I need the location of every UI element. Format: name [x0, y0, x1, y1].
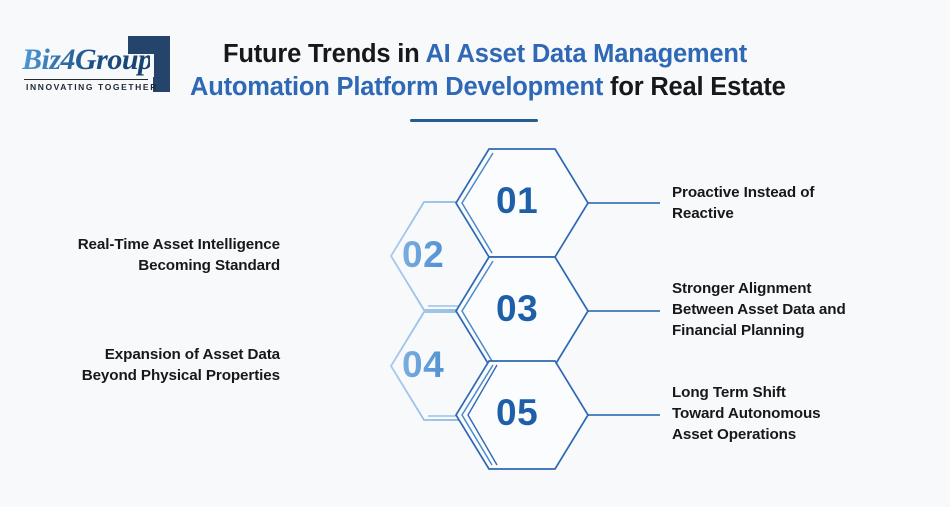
logo-tagline: INNOVATING TOGETHER	[26, 82, 158, 92]
item-label-03: Stronger Alignment Between Asset Data an…	[672, 278, 944, 341]
item-label-01: Proactive Instead of Reactive	[672, 182, 940, 224]
page-title-line-2: Automation Platform Development for Real…	[190, 71, 780, 104]
hexagon-number-02: 02	[402, 236, 444, 273]
logo-wordmark: Biz4Group	[22, 42, 150, 78]
brand-logo: Biz4Group INNOVATING TOGETHER	[18, 30, 178, 102]
item-label-02: Real-Time Asset Intelligence Becoming St…	[10, 234, 280, 276]
item-label-04: Expansion of Asset Data Beyond Physical …	[10, 344, 280, 386]
title-underline	[410, 119, 538, 122]
page-title-plain-1: Future Trends in	[223, 40, 426, 68]
hexagon-number-04: 04	[402, 346, 444, 383]
page-title-highlight-1: AI Asset Data Management	[425, 40, 747, 68]
hexagon-diagram: 01 02 03 04 05 Proactive Instead of Reac…	[0, 130, 950, 507]
page-title: Future Trends in AI Asset Data Managemen…	[190, 38, 780, 104]
hexagon-number-01: 01	[496, 182, 538, 219]
item-label-05: Long Term Shift Toward Autonomous Asset …	[672, 382, 944, 445]
logo-divider	[24, 79, 148, 80]
hexagon-number-03: 03	[496, 290, 538, 327]
hexagon-number-05: 05	[496, 394, 538, 431]
page-title-plain-2: for Real Estate	[603, 73, 785, 101]
page-title-highlight-2: Automation Platform Development	[190, 73, 603, 101]
page-title-line-1: Future Trends in AI Asset Data Managemen…	[190, 38, 780, 71]
header: Biz4Group INNOVATING TOGETHER Future Tre…	[0, 0, 950, 130]
